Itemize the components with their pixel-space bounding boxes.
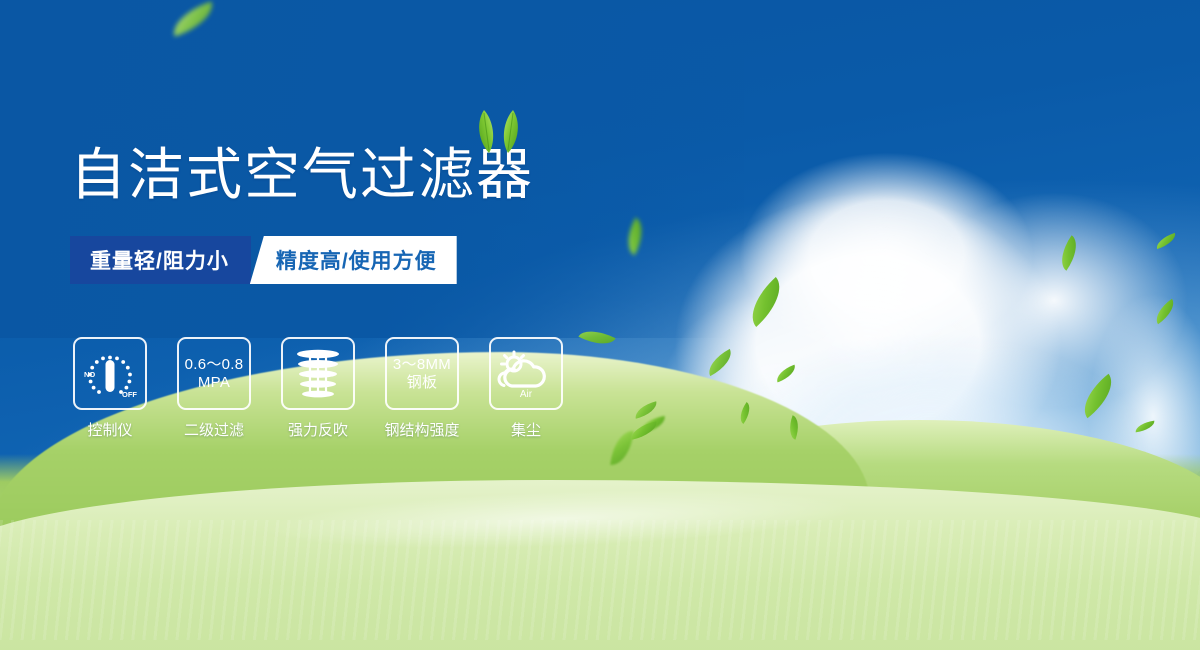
cloud-air-icon: Air: [496, 348, 556, 400]
feature-list: NO OFF 控制仪 0.6～0.8 MPA 二级过滤: [72, 337, 564, 440]
feature-label: 集尘: [511, 419, 541, 440]
feature-icon-box: NO OFF: [73, 337, 147, 410]
feature-item-pressure[interactable]: 0.6～0.8 MPA 二级过滤: [176, 337, 252, 440]
feature-label: 二级过滤: [184, 419, 244, 440]
control-dial-icon: NO OFF: [79, 345, 141, 403]
subtitle-bar: 重量轻/阻力小 精度高/使用方便: [70, 236, 457, 284]
feature-icon-box: 0.6～0.8 MPA: [177, 337, 251, 410]
subtitle-left: 重量轻/阻力小: [70, 236, 251, 284]
feature-label: 控制仪: [87, 419, 132, 440]
dial-off-label: OFF: [122, 390, 137, 399]
pressure-unit-text: MPA: [198, 374, 230, 392]
feature-icon-box: 3～8MM 钢板: [385, 337, 459, 410]
page-title: 自洁式空气过滤器: [70, 146, 534, 204]
hero-banner: 自洁式空气过滤器 重量轻/阻力小 精度高/使用方便: [0, 0, 1200, 650]
dial-on-label: NO: [84, 370, 95, 379]
feature-label: 钢结构强度: [384, 419, 459, 440]
feature-item-blowback[interactable]: 强力反吹: [280, 337, 356, 440]
feature-label: 强力反吹: [288, 419, 348, 440]
feature-item-dust[interactable]: Air 集尘: [488, 337, 564, 440]
sprout-leaves-icon: [466, 108, 530, 154]
feature-icon-box: Air: [489, 337, 563, 410]
feature-item-control[interactable]: NO OFF 控制仪: [72, 337, 148, 440]
steel-thickness-text: 3～8MM: [393, 356, 451, 374]
air-caption: Air: [520, 389, 533, 400]
steel-plate-text: 钢板: [407, 374, 438, 392]
feature-icon-box: [281, 337, 355, 410]
filter-cartridge-icon: [291, 346, 345, 402]
pressure-range-text: 0.6～0.8: [185, 356, 244, 374]
subtitle-right: 精度高/使用方便: [250, 236, 457, 284]
meadow-texture: [0, 520, 1200, 640]
feature-item-steel[interactable]: 3～8MM 钢板 钢结构强度: [384, 337, 460, 440]
